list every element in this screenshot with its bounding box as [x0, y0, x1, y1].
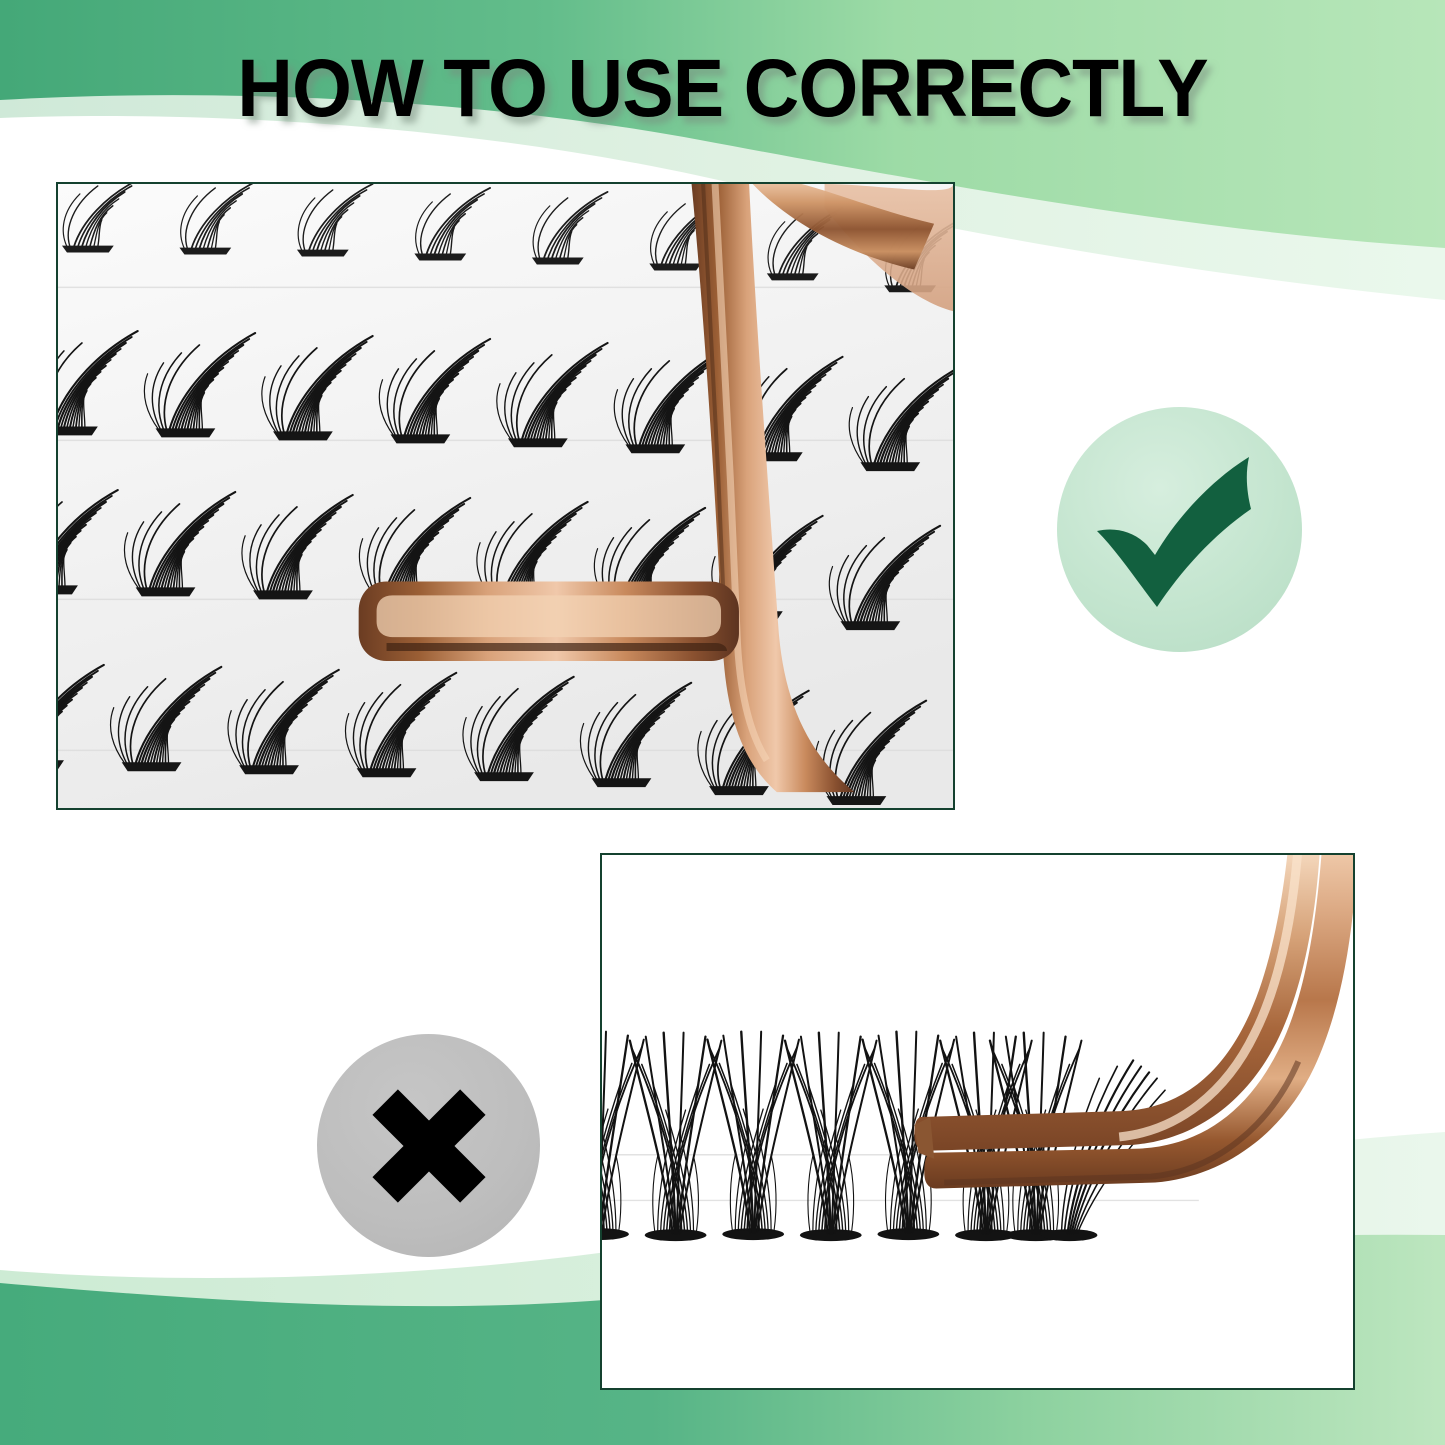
lash-tray-top-view: [58, 184, 953, 808]
correct-usage-photo: [56, 182, 955, 810]
lash-row-side-view: [602, 855, 1353, 1388]
incorrect-usage-photo: [600, 853, 1355, 1390]
check-mark-glyph: [1085, 435, 1275, 625]
cross-mark-glyph: [359, 1076, 499, 1216]
page-title: HOW TO USE CORRECTLY: [43, 46, 1401, 132]
check-icon: [1057, 407, 1302, 652]
infographic-stage: HOW TO USE CORRECTLY: [0, 0, 1445, 1445]
cross-icon: [317, 1034, 540, 1257]
